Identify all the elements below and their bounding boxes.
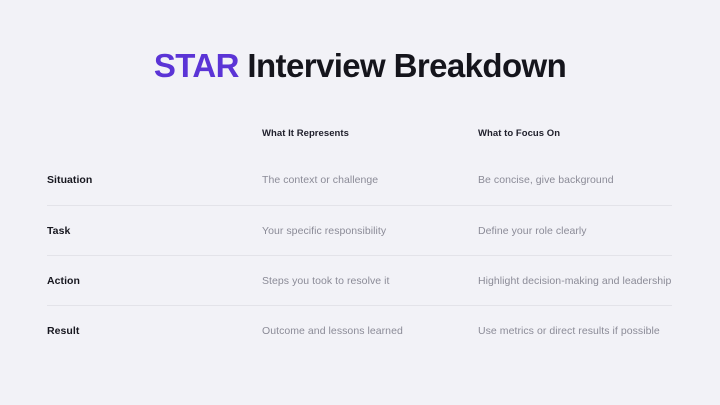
title-accent-word: STAR [154, 47, 239, 84]
title-rest: Interview Breakdown [239, 47, 566, 84]
row-label: Action [47, 275, 262, 287]
table-row: Situation The context or challenge Be co… [47, 155, 672, 205]
table-row: Result Outcome and lessons learned Use m… [47, 305, 672, 355]
header-what-to-focus-on: What to Focus On [478, 120, 672, 139]
table-row: Action Steps you took to resolve it High… [47, 255, 672, 305]
row-focus: Highlight decision-making and leadership [478, 275, 672, 287]
page-title: STAR Interview Breakdown [0, 47, 720, 85]
table-header-row: What It Represents What to Focus On [47, 120, 672, 155]
row-label: Situation [47, 174, 262, 186]
slide-canvas: STAR Interview Breakdown What It Represe… [0, 0, 720, 405]
row-represents: Outcome and lessons learned [262, 325, 478, 337]
row-focus: Be concise, give background [478, 174, 672, 186]
row-label: Task [47, 225, 262, 237]
row-focus: Define your role clearly [478, 225, 672, 237]
row-represents: Steps you took to resolve it [262, 275, 478, 287]
row-label: Result [47, 325, 262, 337]
row-represents: The context or challenge [262, 174, 478, 186]
row-focus: Use metrics or direct results if possibl… [478, 325, 672, 337]
table-row: Task Your specific responsibility Define… [47, 205, 672, 255]
star-breakdown-table: What It Represents What to Focus On Situ… [47, 120, 672, 355]
header-what-it-represents: What It Represents [262, 120, 478, 139]
row-represents: Your specific responsibility [262, 225, 478, 237]
